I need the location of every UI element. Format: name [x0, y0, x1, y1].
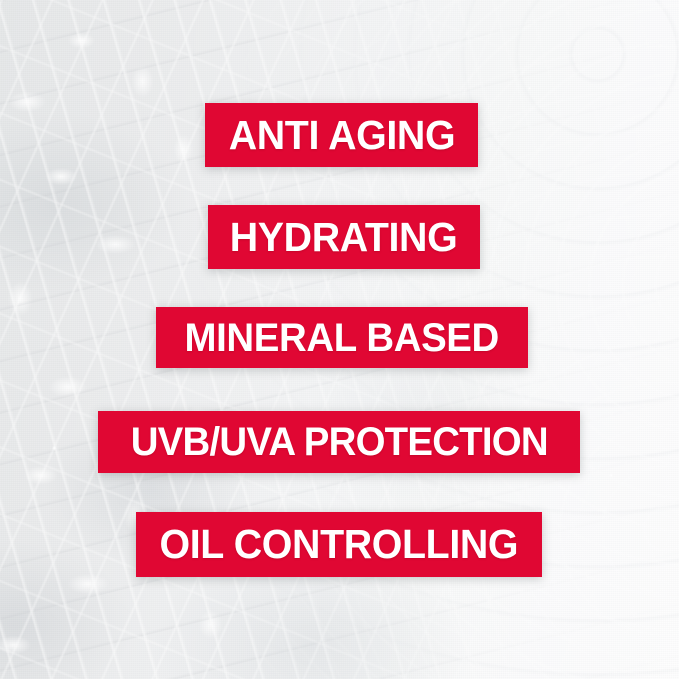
benefit-label: UVB/UVA PROTECTION — [130, 422, 547, 462]
benefit-label: HYDRATING — [230, 217, 458, 258]
benefit-banner-uvb-uva-protection: UVB/UVA PROTECTION — [98, 411, 580, 473]
benefits-poster: ANTI AGING HYDRATING MINERAL BASED UVB/U… — [0, 0, 679, 679]
benefit-banner-mineral-based: MINERAL BASED — [156, 307, 528, 368]
benefit-label: MINERAL BASED — [185, 318, 499, 358]
benefit-label: ANTI AGING — [228, 115, 454, 156]
benefit-label: OIL CONTROLLING — [160, 524, 519, 565]
benefit-banner-oil-controlling: OIL CONTROLLING — [136, 512, 542, 577]
benefit-banner-anti-aging: ANTI AGING — [205, 103, 478, 167]
benefit-banner-hydrating: HYDRATING — [208, 205, 480, 269]
benefit-banner-list: ANTI AGING HYDRATING MINERAL BASED UVB/U… — [0, 0, 679, 679]
